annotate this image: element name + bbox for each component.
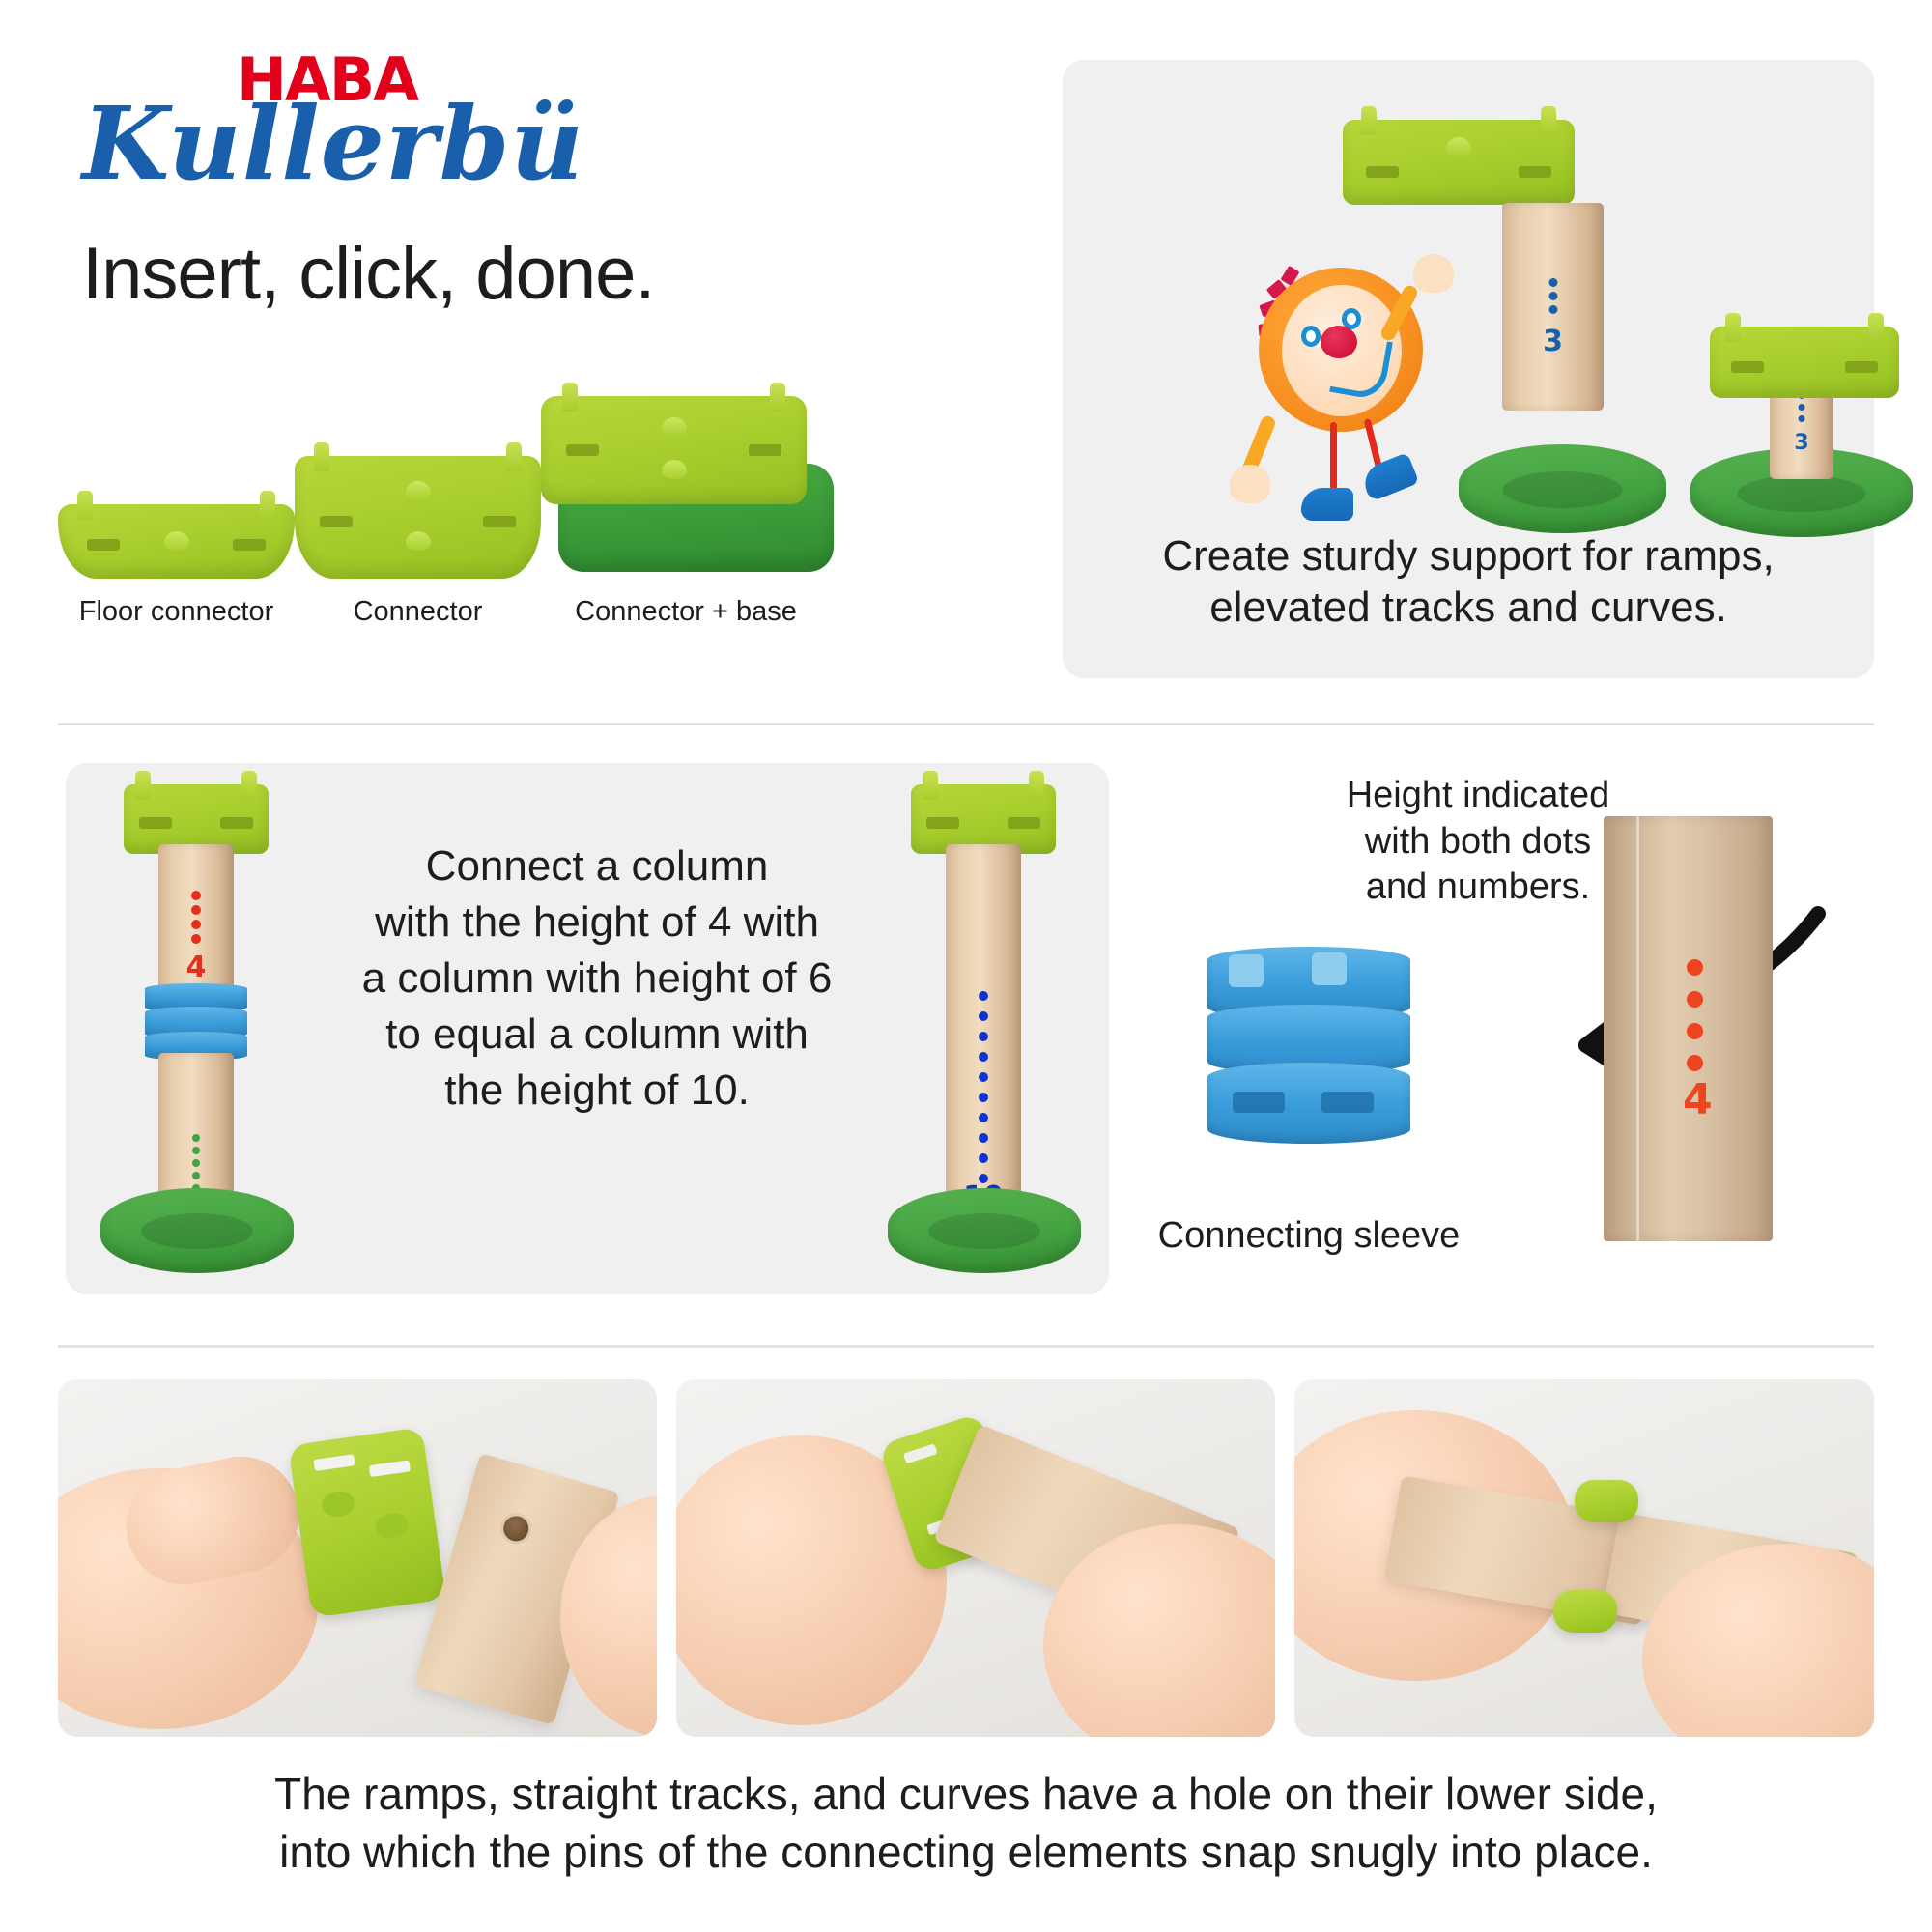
connector-image <box>295 429 541 579</box>
brand-logo: HABA Kullerbü <box>82 53 662 194</box>
floor-connector-image <box>58 477 295 579</box>
wood-block-number: 4 <box>1683 1075 1713 1124</box>
page-title: Insert, click, done. <box>82 232 655 316</box>
columns-explanation-panel: 4 Co <box>66 763 1109 1294</box>
column-height-number: 3 <box>1543 325 1563 358</box>
photo-step-1 <box>58 1379 657 1737</box>
support-panel-wood-column: 3 <box>1502 203 1604 411</box>
connector-variants-row: Floor connector Connector <box>58 386 831 628</box>
column4-number: 4 <box>186 951 207 984</box>
support-panel-connector-top <box>1343 99 1575 205</box>
column4-connecting-sleeve <box>145 983 247 1059</box>
wood-block-dots <box>1687 959 1703 1071</box>
column10-dots <box>979 991 988 1183</box>
connector-variant-with-base: Connector + base <box>541 371 831 628</box>
assembled-column-height-number: 3 <box>1794 431 1808 455</box>
connecting-sleeve-image <box>1207 947 1410 1179</box>
infographic-page: HABA Kullerbü Insert, click, done. Floor… <box>0 0 1932 1932</box>
support-panel-caption: Create sturdy support for ramps, elevate… <box>1092 530 1845 634</box>
photo-step-2 <box>676 1379 1275 1737</box>
connector-base-image <box>541 371 831 579</box>
joining-connector-top <box>1575 1480 1638 1522</box>
connector-variant-label: Connector <box>354 596 483 628</box>
support-panel-base <box>1459 444 1666 533</box>
support-panel-assembled-column: 3 <box>1690 327 1913 537</box>
connector-variant-label: Floor connector <box>79 596 274 628</box>
photo-step-3 <box>1294 1379 1874 1737</box>
support-panel: 3 3 Create sturdy support <box>1063 60 1874 678</box>
kullerbu-mascot-icon <box>1241 229 1463 519</box>
joining-connector-bottom <box>1553 1590 1617 1633</box>
divider-bottom <box>58 1345 1874 1348</box>
bottom-caption: The ramps, straight tracks, and curves h… <box>58 1766 1874 1882</box>
column-height-4: 4 <box>95 784 298 1277</box>
columns-panel-text: Connect a column with the height of 4 wi… <box>327 838 867 1119</box>
connector-in-hand <box>288 1427 446 1618</box>
column-height-10: 10 <box>882 784 1085 1277</box>
kullerbu-wordmark: Kullerbü <box>82 94 662 194</box>
connector-variant-label: Connector + base <box>575 596 797 628</box>
column-height-dots <box>1548 278 1557 314</box>
column4-dots <box>191 891 201 944</box>
divider-top <box>58 723 1874 725</box>
wood-column-height-marking: 4 <box>1604 816 1773 1241</box>
connecting-sleeve-label: Connecting sleeve <box>1150 1215 1468 1257</box>
connector-variant-floor: Floor connector <box>58 477 295 628</box>
connector-variant-standard: Connector <box>295 429 541 628</box>
